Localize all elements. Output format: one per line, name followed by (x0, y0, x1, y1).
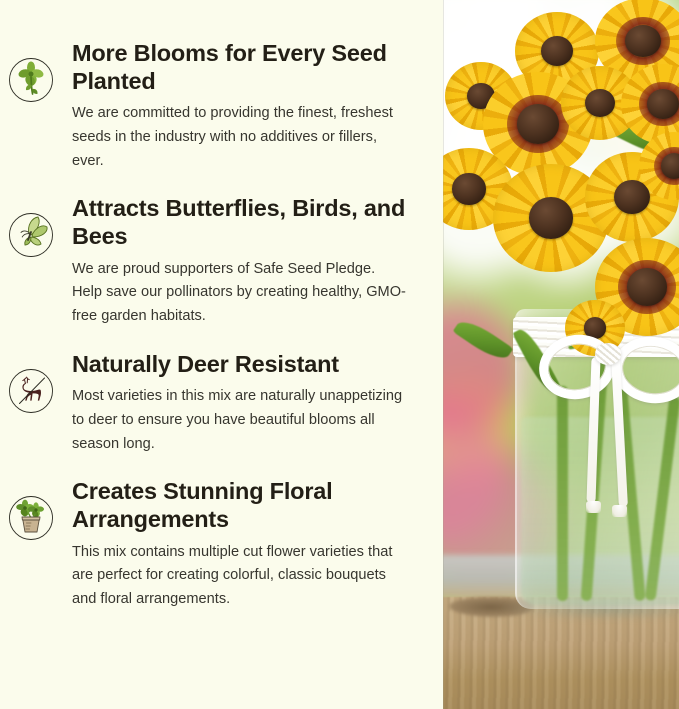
feature-description: Most varieties in this mix are naturally… (72, 385, 408, 456)
feature-title: Attracts Butterflies, Birds, and Bees (72, 195, 412, 250)
potted-plant-icon (7, 494, 55, 542)
feature-item: More Blooms for Every Seed Planted We ar… (0, 40, 443, 173)
leaf (453, 315, 514, 365)
flower-bloom-icon (7, 56, 55, 104)
feature-item: Naturally Deer Resistant Most varieties … (0, 351, 443, 457)
feature-text: Attracts Butterflies, Birds, and Bees We… (72, 195, 419, 328)
rope-tail-frayed-end (612, 505, 627, 517)
panel-photo-divider (443, 0, 444, 709)
feature-text: Creates Stunning Floral Arrangements Thi… (72, 478, 419, 611)
butterfly-icon (7, 211, 55, 259)
feature-description: This mix contains multiple cut flower va… (72, 541, 408, 612)
feature-text: Naturally Deer Resistant Most varieties … (72, 351, 419, 457)
feature-title: Naturally Deer Resistant (72, 351, 412, 379)
rope-tail-frayed-end (586, 501, 601, 513)
feature-item: Attracts Butterflies, Birds, and Bees We… (0, 195, 443, 328)
feature-item: Creates Stunning Floral Arrangements Thi… (0, 478, 443, 611)
feature-title: Creates Stunning Floral Arrangements (72, 478, 412, 533)
no-deer-icon (7, 367, 55, 415)
feature-description: We are proud supporters of Safe Seed Ple… (72, 258, 408, 329)
rope-knot (595, 343, 621, 365)
product-photo (443, 0, 679, 709)
feature-description: We are committed to providing the finest… (72, 102, 408, 173)
product-feature-page: More Blooms for Every Seed Planted We ar… (0, 0, 679, 709)
photo-stage (443, 0, 679, 709)
features-panel: More Blooms for Every Seed Planted We ar… (0, 0, 443, 709)
feature-title: More Blooms for Every Seed Planted (72, 40, 412, 95)
feature-text: More Blooms for Every Seed Planted We ar… (72, 40, 419, 173)
